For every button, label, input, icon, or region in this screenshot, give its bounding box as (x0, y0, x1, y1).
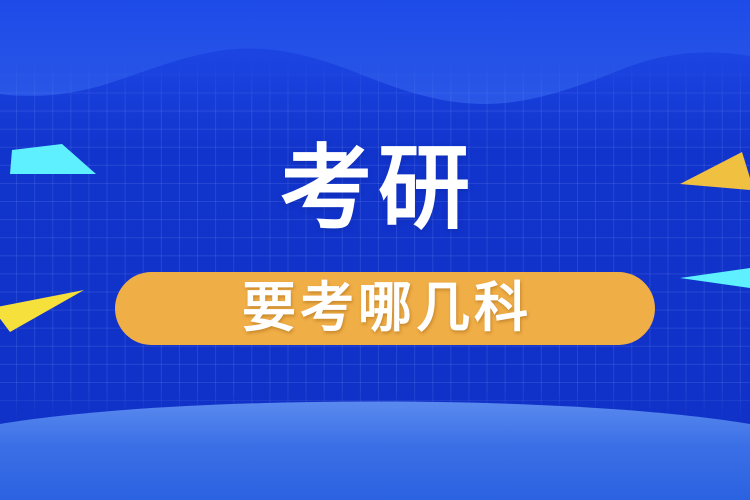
subtitle-text: 要考哪几科 (238, 281, 532, 335)
subtitle-pill: 要考哪几科 (115, 272, 655, 345)
banner-content: 考研 要考哪几科 (0, 0, 750, 500)
promo-banner: 考研 要考哪几科 (0, 0, 750, 500)
page-title: 考研 (0, 143, 750, 235)
